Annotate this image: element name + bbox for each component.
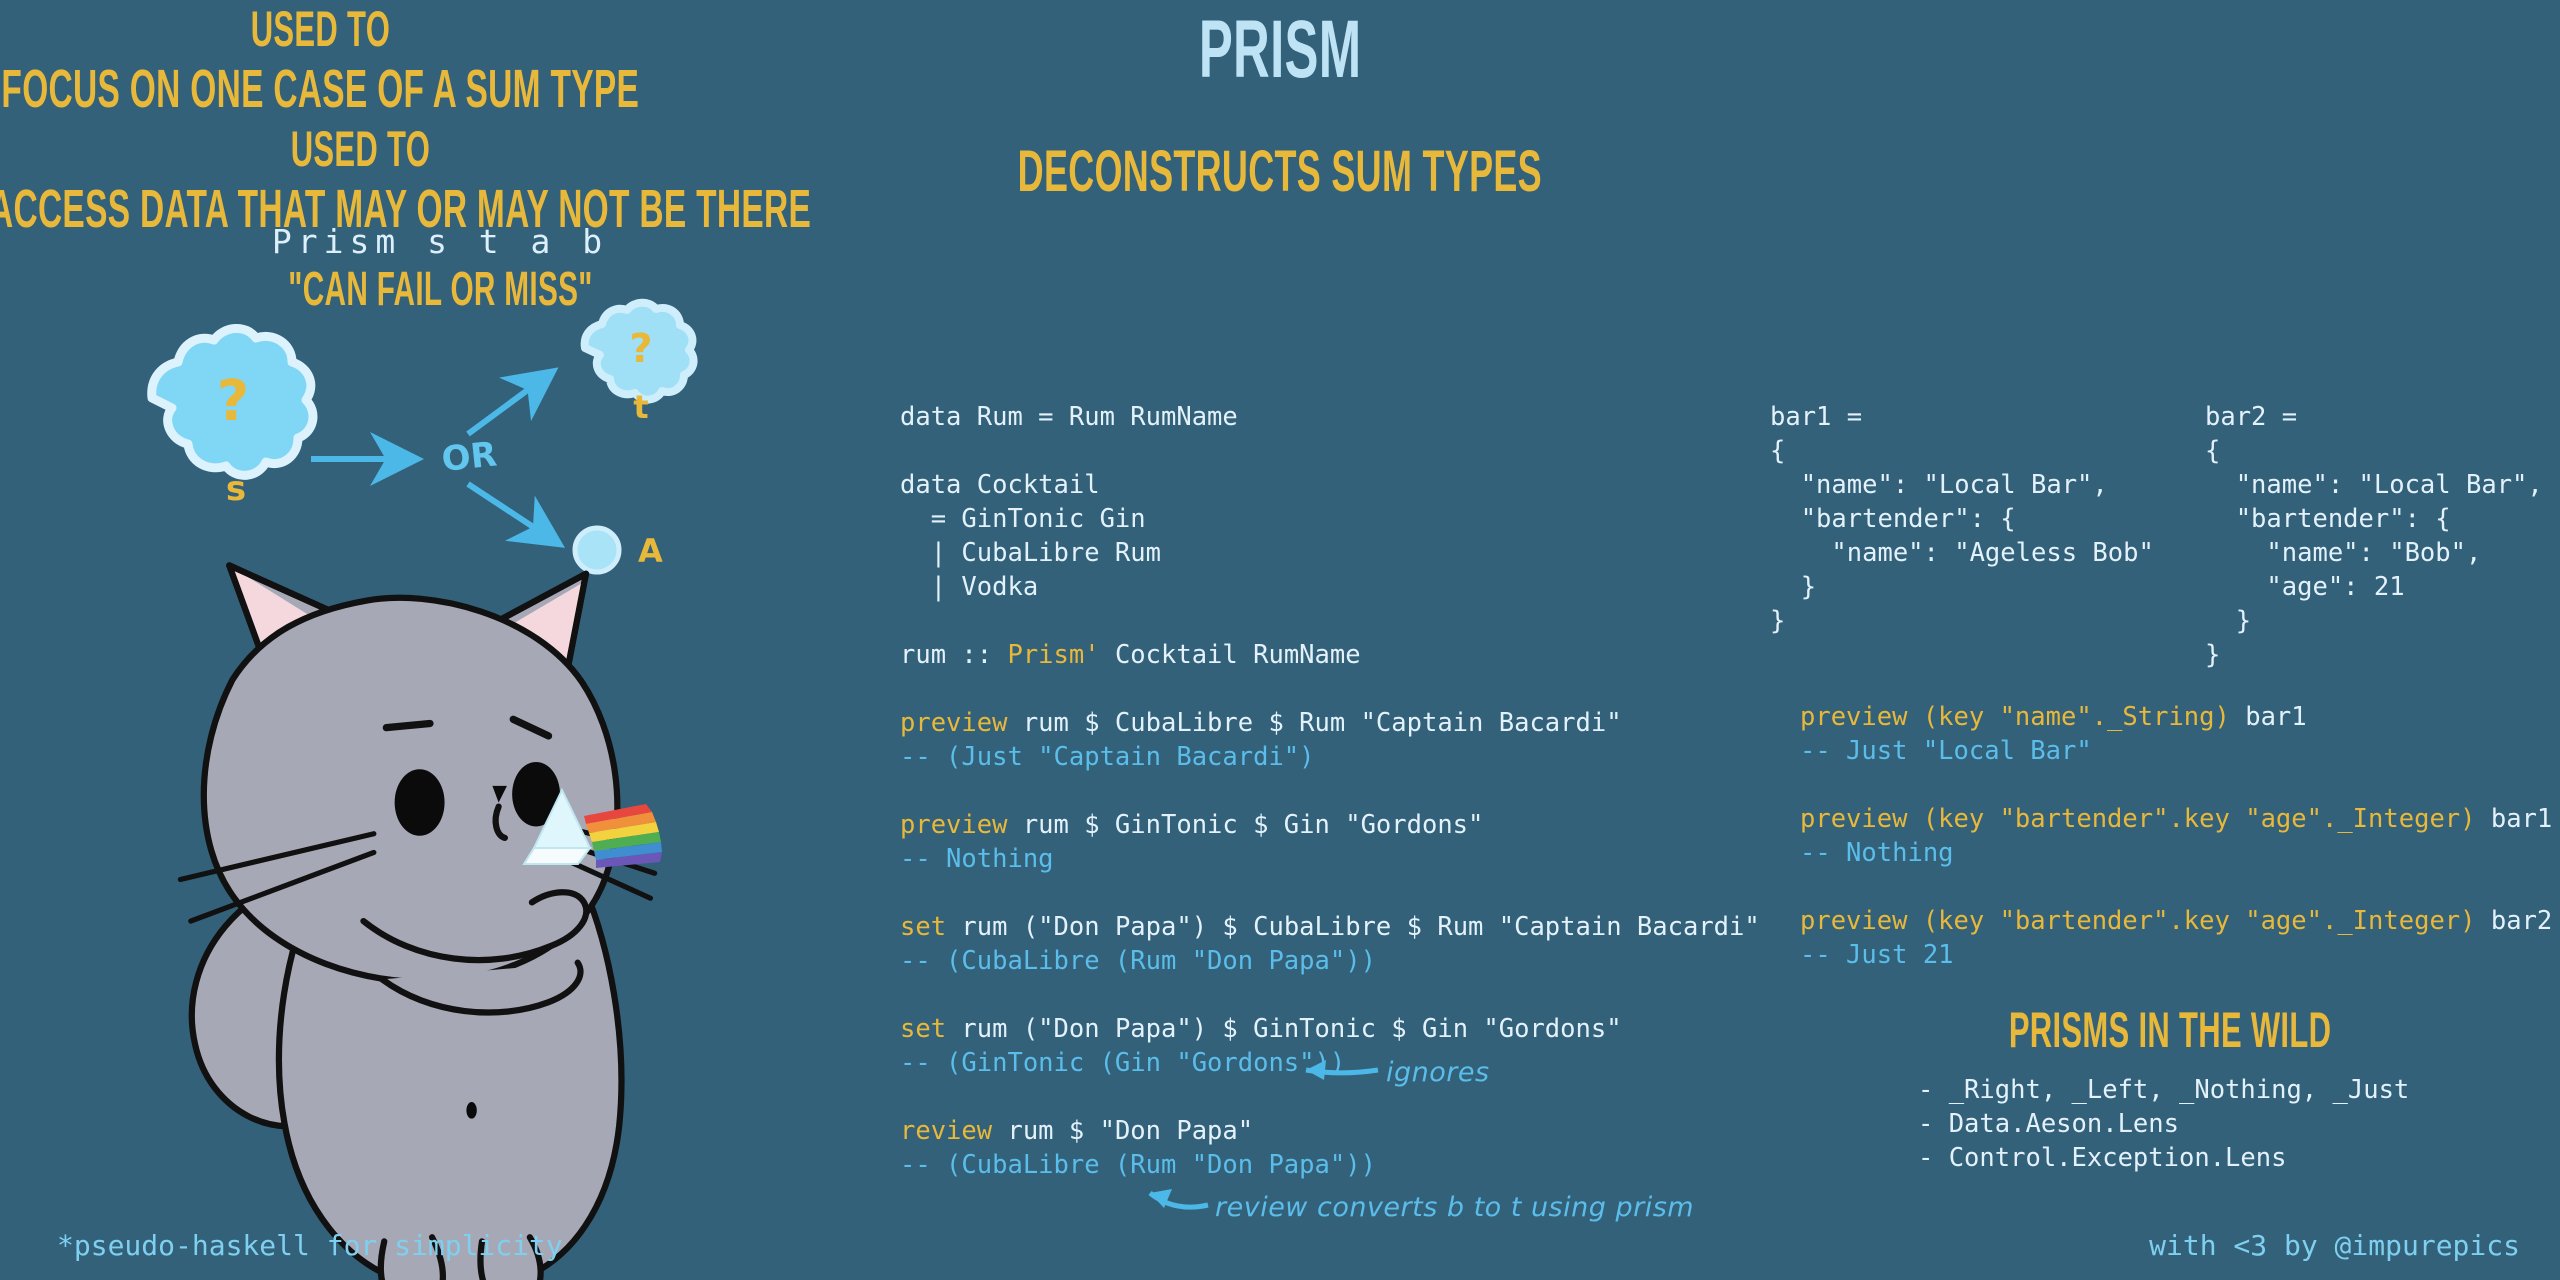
list-item: - Data.Aeson.Lens	[1918, 1107, 2409, 1141]
prism-tagline-text: "CAN FAIL OR MISS"	[288, 262, 592, 317]
code-line	[900, 978, 1760, 1012]
code-token: data Cocktail	[900, 470, 1100, 500]
code-token: -- Just "Local Bar"	[1800, 736, 2092, 766]
code-line: preview (key "name"._String) bar1	[1800, 700, 2552, 734]
code-token: {	[2205, 436, 2220, 466]
code-token: preview	[900, 810, 1007, 840]
right-query-block: preview (key "name"._String) bar1-- Just…	[1800, 700, 2552, 972]
code-token: bar1	[2476, 804, 2553, 834]
code-token: }	[2205, 640, 2220, 670]
code-line	[1800, 768, 2552, 802]
code-token: -- Nothing	[900, 844, 1054, 874]
code-token: }	[1770, 606, 1785, 636]
code-line: set rum ("Don Papa") $ GinTonic $ Gin "G…	[900, 1012, 1760, 1046]
diagram-or-label: OR	[440, 434, 499, 480]
code-line	[900, 876, 1760, 910]
list-item: - Control.Exception.Lens	[1918, 1141, 2409, 1175]
code-token: }	[1770, 572, 1816, 602]
code-line: -- Nothing	[1800, 836, 2552, 870]
code-token: "name": "Local Bar",	[1770, 470, 2108, 500]
code-token: = GinTonic Gin	[900, 504, 1146, 534]
code-token: bar1 =	[1770, 402, 1862, 432]
svg-text:?: ?	[217, 369, 249, 434]
code-line: "name": "Local Bar",	[2205, 468, 2543, 502]
code-token: review	[900, 1116, 992, 1146]
code-token: {	[1770, 436, 1785, 466]
code-line: set rum ("Don Papa") $ CubaLibre $ Rum "…	[900, 910, 1760, 944]
poster-canvas: PRISM DECONSTRUCTS SUM TYPES Prism s t a…	[0, 0, 2560, 1280]
code-line	[900, 672, 1760, 706]
code-line: -- Nothing	[900, 842, 1760, 876]
code-line: -- (GinTonic (Gin "Gordons"))	[900, 1046, 1760, 1080]
code-token: bar2	[2476, 906, 2553, 936]
right-purpose-text: ACCESS DATA THAT MAY OR MAY NOT BE THERE	[0, 178, 811, 240]
code-token: "name": "Local Bar",	[2205, 470, 2543, 500]
code-token: "name": "Ageless Bob"	[1770, 538, 2154, 568]
code-line: bar1 =	[1770, 400, 2154, 434]
page-subtitle-text: DECONSTRUCTS SUM TYPES	[1018, 138, 1542, 205]
code-line: bar2 =	[2205, 400, 2543, 434]
svg-text:?: ?	[629, 326, 652, 372]
code-token: rum ::	[900, 640, 1007, 670]
code-token: "bartender": {	[1770, 504, 2016, 534]
code-line: "bartender": {	[1770, 502, 2154, 536]
code-token: | Vodka	[900, 572, 1038, 602]
prism-rainbow-icon	[524, 790, 662, 868]
code-line	[900, 1080, 1760, 1114]
code-line: = GinTonic Gin	[900, 502, 1760, 536]
code-line: "name": "Local Bar",	[1770, 468, 2154, 502]
prism-tagline: "CAN FAIL OR MISS"	[0, 270, 880, 308]
bar2-json-block: bar2 ={ "name": "Local Bar", "bartender"…	[2205, 400, 2543, 672]
code-line: "age": 21	[2205, 570, 2543, 604]
code-line: "name": "Bob",	[2205, 536, 2543, 570]
middle-purpose-text: FOCUS ON ONE CASE OF A SUM TYPE	[1, 58, 639, 120]
code-token: preview (key "bartender".key "age"._Inte…	[1800, 804, 2476, 834]
right-purpose: ACCESS DATA THAT MAY OR MAY NOT BE THERE	[0, 178, 800, 240]
code-token: bar1	[2230, 702, 2307, 732]
code-token: preview (key "name"._String)	[1800, 702, 2230, 732]
code-token: preview	[900, 708, 1007, 738]
diagram-dot-a-label: A	[638, 532, 663, 570]
code-token: rum $ GinTonic $ Gin "Gordons"	[1007, 810, 1483, 840]
code-line: -- Just 21	[1800, 938, 2552, 972]
code-line	[900, 604, 1760, 638]
code-line: }	[1770, 570, 2154, 604]
svg-text:t: t	[633, 388, 648, 426]
code-line: | Vodka	[900, 570, 1760, 604]
code-line: preview (key "bartender".key "age"._Inte…	[1800, 802, 2552, 836]
code-token: bar2 =	[2205, 402, 2297, 432]
code-line: preview rum $ CubaLibre $ Rum "Captain B…	[900, 706, 1760, 740]
code-token: rum ("Don Papa") $ GinTonic $ Gin "Gordo…	[946, 1014, 1622, 1044]
prisms-in-the-wild-list: - _Right, _Left, _Nothing, _Just- Data.A…	[1918, 1073, 2409, 1175]
code-token: }	[2205, 606, 2251, 636]
diagram-dot-a: A	[575, 528, 663, 572]
code-token: rum $ CubaLibre $ Rum "Captain Bacardi"	[1007, 708, 1621, 738]
code-line: }	[1770, 604, 2154, 638]
code-line: "bartender": {	[2205, 502, 2543, 536]
diagram-blob-s: ? s	[152, 328, 313, 509]
code-token: set	[900, 1014, 946, 1044]
prisms-in-the-wild-heading: PRISMS IN THE WILD	[1860, 1010, 2480, 1050]
code-token: rum $ "Don Papa"	[992, 1116, 1253, 1146]
bar1-json-block: bar1 ={ "name": "Local Bar", "bartender"…	[1770, 400, 2154, 638]
code-line: }	[2205, 604, 2543, 638]
code-line: }	[2205, 638, 2543, 672]
list-item: - _Right, _Left, _Nothing, _Just	[1918, 1073, 2409, 1107]
code-token: -- (Just "Captain Bacardi")	[900, 742, 1315, 772]
middle-purpose: FOCUS ON ONE CASE OF A SUM TYPE	[0, 58, 640, 120]
code-line	[900, 774, 1760, 808]
annotation-review: review converts b to t using prism	[1215, 1192, 1694, 1223]
prisms-in-the-wild-heading-text: PRISMS IN THE WILD	[2009, 1001, 2331, 1059]
code-line: preview (key "bartender".key "age"._Inte…	[1800, 904, 2552, 938]
code-line: review rum $ "Don Papa"	[900, 1114, 1760, 1148]
code-line: rum :: Prism' Cocktail RumName	[900, 638, 1760, 672]
code-token: set	[900, 912, 946, 942]
code-line	[900, 434, 1760, 468]
middle-code-block: data Rum = Rum RumName data Cocktail = G…	[900, 400, 1760, 1182]
code-line: -- Just "Local Bar"	[1800, 734, 2552, 768]
svg-text:s: s	[226, 469, 246, 509]
right-used-to-text: USED TO	[290, 120, 429, 178]
annotation-ignores: ignores	[1386, 1057, 1490, 1088]
diagram-arrow-miss	[468, 484, 550, 538]
middle-used-to-text: USED TO	[250, 0, 389, 58]
code-line: data Cocktail	[900, 468, 1760, 502]
code-line: data Rum = Rum RumName	[900, 400, 1760, 434]
footer-note: *pseudo-haskell for simplicity	[57, 1229, 563, 1262]
code-token: "name": "Bob",	[2205, 538, 2481, 568]
code-line: -- (CubaLibre (Rum "Don Papa"))	[900, 944, 1760, 978]
code-token: | CubaLibre Rum	[900, 538, 1161, 568]
code-token: -- (CubaLibre (Rum "Don Papa"))	[900, 946, 1376, 976]
code-token: -- (CubaLibre (Rum "Don Papa"))	[900, 1150, 1376, 1180]
code-token: preview (key "bartender".key "age"._Inte…	[1800, 906, 2476, 936]
diagram-blob-t: ? t	[585, 303, 694, 426]
code-line: "name": "Ageless Bob"	[1770, 536, 2154, 570]
code-token: "age": 21	[2205, 572, 2405, 602]
code-token: rum ("Don Papa") $ CubaLibre $ Rum "Capt…	[946, 912, 1760, 942]
review-arrow	[1150, 1193, 1208, 1207]
code-token: Prism'	[1007, 640, 1099, 670]
code-line: preview rum $ GinTonic $ Gin "Gordons"	[900, 808, 1760, 842]
code-token: -- (GinTonic (Gin "Gordons"))	[900, 1048, 1345, 1078]
code-line: -- (Just "Captain Bacardi")	[900, 740, 1760, 774]
code-line: -- (CubaLibre (Rum "Don Papa"))	[900, 1148, 1760, 1182]
code-line	[1800, 870, 2552, 904]
code-token: -- Nothing	[1800, 838, 1954, 868]
diagram-arrow-hit	[468, 378, 544, 434]
code-token: "bartender": {	[2205, 504, 2451, 534]
code-token: -- Just 21	[1800, 940, 1954, 970]
code-token: data Rum = Rum RumName	[900, 402, 1238, 432]
code-line: | CubaLibre Rum	[900, 536, 1760, 570]
footer-credit[interactable]: with <3 by @impurepics	[2149, 1229, 2520, 1262]
code-token: Cocktail RumName	[1100, 640, 1361, 670]
page-title-text: PRISM	[1199, 3, 1362, 97]
code-line: {	[1770, 434, 2154, 468]
code-line: {	[2205, 434, 2543, 468]
